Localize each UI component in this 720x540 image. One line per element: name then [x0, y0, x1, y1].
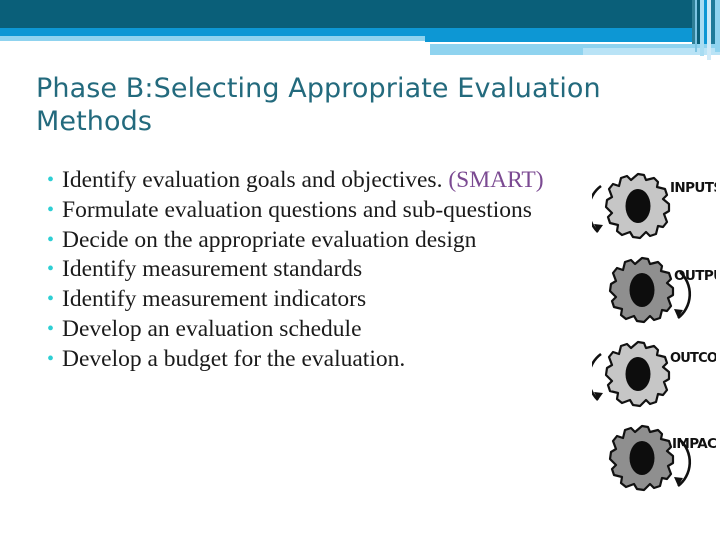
- list-item-text: Identify measurement indicators: [62, 285, 584, 314]
- bullet-dot-icon: •: [44, 345, 62, 374]
- list-item: • Decide on the appropriate evaluation d…: [44, 226, 584, 255]
- bullet-list: • Identify evaluation goals and objectiv…: [44, 166, 584, 375]
- list-item-text: Identify measurement standards: [62, 255, 584, 284]
- header-band-white-gap: [0, 41, 425, 45]
- list-item: • Identify measurement standards: [44, 255, 584, 284]
- gear-label-impact: IMPACT:: [672, 436, 716, 452]
- bullet-dot-icon: •: [44, 196, 62, 225]
- list-item: • Develop a budget for the evaluation.: [44, 345, 584, 374]
- list-item-text: Develop a budget for the evaluation.: [62, 345, 584, 374]
- smart-link[interactable]: (SMART): [448, 167, 543, 193]
- list-item: • Develop an evaluation schedule: [44, 315, 584, 344]
- gear-outcomes: OUTCOMES:: [592, 342, 716, 406]
- list-item-text: Decide on the appropriate evaluation des…: [62, 226, 584, 255]
- bullet-dot-icon: •: [44, 255, 62, 284]
- gear-label-inputs: INPUTS:: [670, 180, 716, 196]
- bullet-dot-icon: •: [44, 166, 62, 195]
- list-item: • Identify evaluation goals and objectiv…: [44, 166, 584, 195]
- bullet-dot-icon: •: [44, 315, 62, 344]
- bullet-dot-icon: •: [44, 226, 62, 255]
- list-item: • Identify measurement indicators: [44, 285, 584, 314]
- gear-outputs: OUTPUTS:: [610, 258, 716, 322]
- page-title: Phase B:Selecting Appropriate Evaluation…: [36, 72, 656, 138]
- gear-label-outputs: OUTPUTS:: [674, 268, 716, 284]
- list-item-text: Identify evaluation goals and objectives…: [62, 166, 584, 195]
- header-band-blue-left: [0, 28, 425, 36]
- gears-svg: INPUTS: OUTPUTS: OUTCOMES: IM: [592, 162, 716, 512]
- list-item-label: Identify evaluation goals and objectives…: [62, 167, 448, 193]
- header-band-lightblue-right-b: [430, 48, 583, 55]
- gear-label-outcomes: OUTCOMES:: [670, 351, 716, 366]
- header-band-blue-right: [425, 28, 708, 42]
- bullet-dot-icon: •: [44, 285, 62, 314]
- list-item-text: Develop an evaluation schedule: [62, 315, 584, 344]
- results-chain-gears-image: INPUTS: OUTPUTS: OUTCOMES: IM: [592, 162, 716, 512]
- header-vstripe-8: [715, 0, 720, 52]
- gear-inputs: INPUTS:: [592, 174, 716, 238]
- header-band-dark: [0, 0, 720, 28]
- list-item-text: Formulate evaluation questions and sub-q…: [62, 196, 584, 225]
- gear-impact: IMPACT:: [610, 426, 716, 490]
- list-item: • Formulate evaluation questions and sub…: [44, 196, 584, 225]
- slide-canvas: Phase B:Selecting Appropriate Evaluation…: [0, 0, 720, 540]
